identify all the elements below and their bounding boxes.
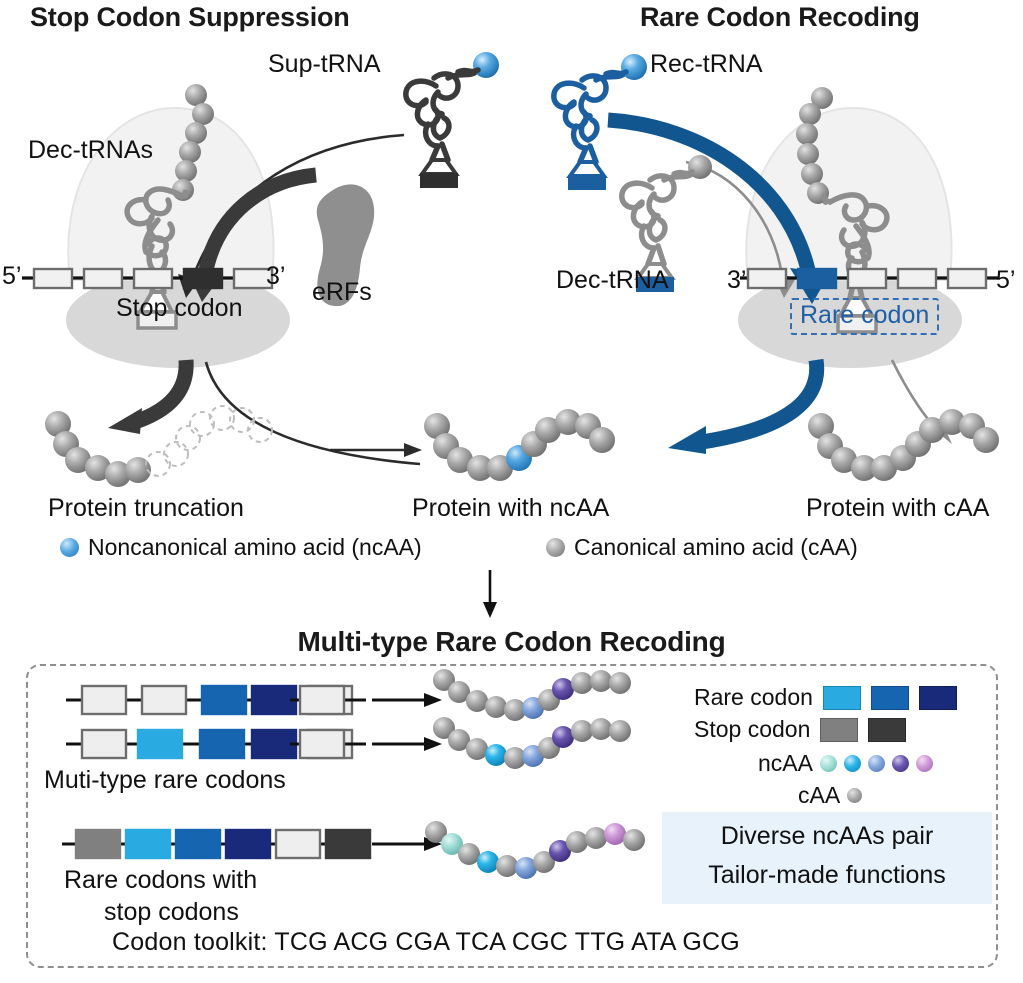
caa-legend-label: Canonical amino acid (cAA) bbox=[574, 534, 858, 561]
ncaa-legend-label: Noncanonical amino acid (ncAA) bbox=[88, 534, 422, 561]
codon-toolkit-text: Codon toolkit: TCG ACG CGA TCA CGC TTG A… bbox=[112, 928, 740, 957]
rare-codon-swatch-medium bbox=[871, 686, 909, 710]
rec-trna-ncaa-bead bbox=[621, 54, 647, 80]
ncaa-swatch-purple bbox=[892, 755, 909, 772]
five-prime-left: 5’ bbox=[2, 262, 21, 291]
stop-codon-swatch-gray bbox=[820, 718, 858, 742]
legend-caa-row: cAA bbox=[798, 782, 862, 809]
legend-stop-codon-label: Stop codon bbox=[694, 716, 810, 743]
legend-caa: Canonical amino acid (cAA) bbox=[546, 534, 858, 561]
highlight-box: Diverse ncAAs pair Tailor-made functions bbox=[662, 812, 992, 904]
right-panel-title: Rare Codon Recoding bbox=[640, 2, 920, 33]
sup-trna-acceptor-stem bbox=[422, 160, 456, 174]
protein-with-ncaa-label: Protein with ncAA bbox=[412, 494, 609, 523]
legend-rare-codon-row: Rare codon bbox=[694, 684, 957, 711]
rec-trna-acceptor-stem bbox=[570, 162, 604, 176]
ncaa-swatch-cyan bbox=[844, 755, 861, 772]
mrna-strand-2-extra-box bbox=[290, 724, 370, 764]
bottom-section-title: Multi-type Rare Codon Recoding bbox=[0, 626, 1023, 658]
ncaa-product-arrowhead-blue bbox=[668, 426, 706, 454]
stop-codon-label: Stop codon bbox=[116, 294, 243, 323]
dec-trnas-label-left: Dec-tRNAs bbox=[28, 136, 153, 165]
dec-trna-label-right: Dec-tRNA bbox=[556, 266, 669, 295]
sup-trna-ncaa-bead bbox=[473, 52, 499, 78]
legend-ncaa-row: ncAA bbox=[758, 750, 933, 777]
highlight-line-1: Diverse ncAAs pair bbox=[662, 812, 992, 851]
mrna-strand-3 bbox=[58, 824, 378, 864]
truncation-to-ncaa-arrow bbox=[330, 430, 430, 470]
rare-codon-box bbox=[798, 269, 836, 288]
protein-truncation-label: Protein truncation bbox=[48, 494, 244, 523]
protein-with-caa-graphic bbox=[806, 408, 1021, 488]
rec-trna-label: Rec-tRNA bbox=[650, 50, 763, 79]
dec-trna-caa-bead bbox=[688, 155, 712, 179]
rare-codon-label: Rare codon bbox=[800, 301, 929, 329]
mrna-strand-1-extra-box bbox=[290, 680, 370, 720]
legend-ncaa: Noncanonical amino acid (ncAA) bbox=[60, 534, 422, 561]
stop-codon-swatch-dark bbox=[868, 718, 906, 742]
rare-codon-callout: Rare codon bbox=[790, 298, 939, 335]
sup-trna-anticodon-block bbox=[420, 173, 458, 188]
legend-ncaa-label: ncAA bbox=[758, 750, 813, 777]
three-prime-right: 3’ bbox=[727, 266, 746, 295]
five-prime-right: 5’ bbox=[996, 266, 1015, 295]
caa-legend-dot bbox=[546, 538, 565, 557]
highlight-line-2: Tailor-made functions bbox=[662, 851, 992, 890]
legend-stop-codon-row: Stop codon bbox=[694, 716, 906, 743]
caa-swatch-gray bbox=[847, 788, 862, 803]
figure-canvas: Stop Codon Suppression Rare Codon Recodi… bbox=[0, 0, 1023, 983]
ncaa-swatch-periwinkle bbox=[868, 755, 885, 772]
ncaa-swatch-teal bbox=[820, 755, 837, 772]
missing-chain-outline bbox=[146, 406, 272, 476]
truncated-chain-beads bbox=[45, 411, 151, 487]
mrna-codon-boxes-left bbox=[34, 269, 272, 288]
section-transition-arrow bbox=[470, 570, 510, 620]
three-prime-left: 3’ bbox=[266, 262, 285, 291]
product-chain-2 bbox=[432, 716, 662, 776]
left-panel-title: Stop Codon Suppression bbox=[30, 2, 350, 33]
sup-trna-graphic bbox=[388, 48, 508, 183]
protein-with-ncaa-graphic bbox=[422, 408, 637, 488]
legend-caa-label: cAA bbox=[798, 782, 840, 809]
mrna-codon-boxes-right bbox=[748, 269, 986, 288]
protein-truncation-graphic bbox=[42, 400, 332, 490]
rare-codons-with-stop-label-line1: Rare codons with bbox=[64, 866, 257, 895]
sup-trna-label: Sup-tRNA bbox=[268, 50, 381, 79]
product-chain-3 bbox=[422, 818, 672, 888]
rec-trna-anticodon-block bbox=[568, 175, 606, 190]
rare-codon-swatch-light bbox=[823, 686, 861, 710]
ncaa-product-arrow-blue bbox=[702, 360, 817, 442]
erfs-label: eRFs bbox=[312, 278, 372, 307]
multi-type-rare-codons-label: Muti-type rare codons bbox=[44, 766, 286, 795]
rare-codon-swatch-dark bbox=[919, 686, 957, 710]
ncaa-swatch-pink bbox=[916, 755, 933, 772]
protein-with-caa-label: Protein with cAA bbox=[806, 494, 989, 523]
ncaa-legend-dot bbox=[60, 538, 79, 557]
stop-codon-box bbox=[184, 269, 222, 288]
rare-codons-with-stop-label-line2: stop codons bbox=[104, 898, 239, 927]
legend-rare-codon-label: Rare codon bbox=[694, 684, 813, 711]
